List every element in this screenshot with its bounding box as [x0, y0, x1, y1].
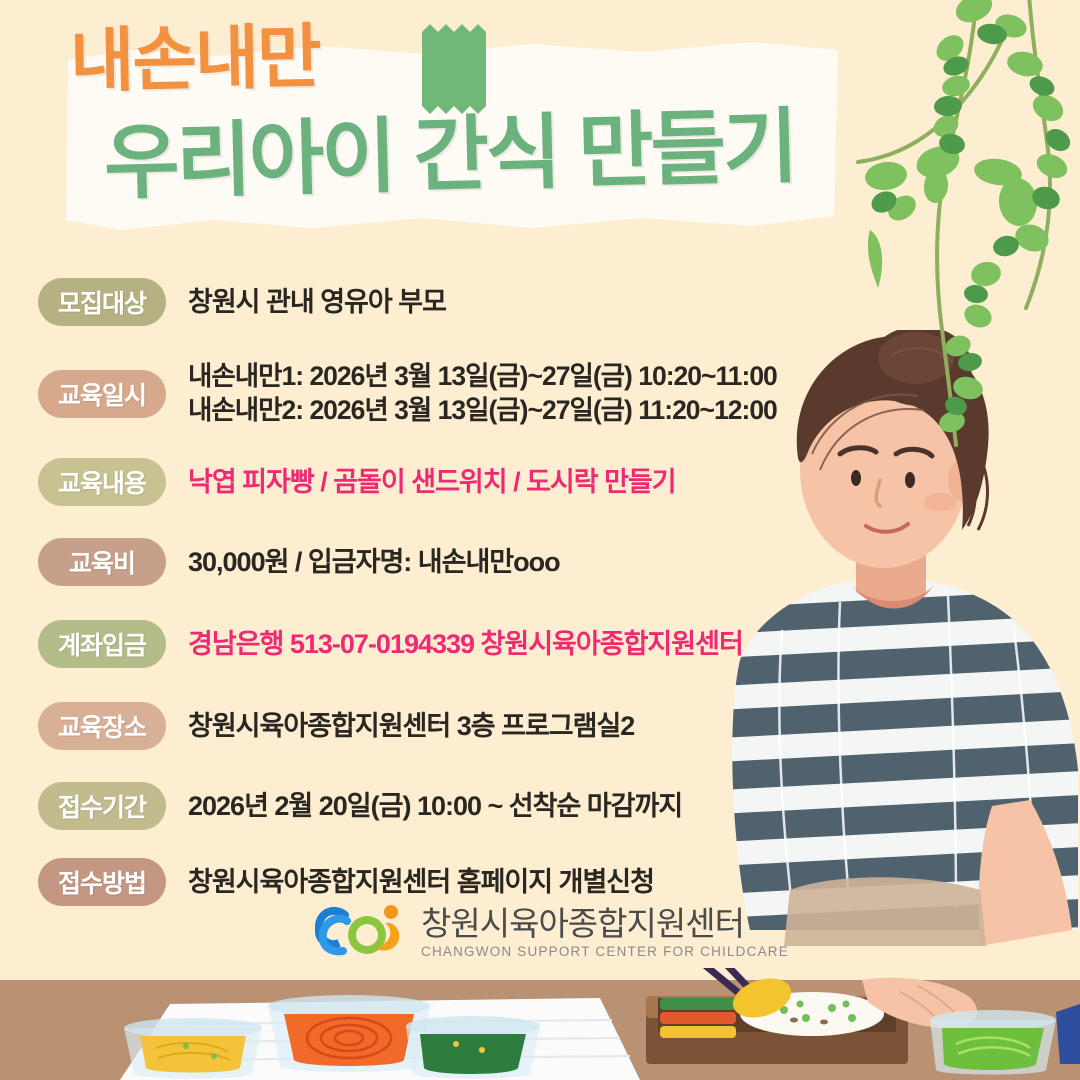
glass-bowl-green-spinach	[406, 1016, 540, 1079]
value-content: 낙엽 피자빵 / 곰돌이 샌드위치 / 도시락 만들기	[188, 465, 676, 500]
poster-root: 내손내만 우리아이 간식 만들기	[0, 0, 1080, 1080]
logo-korean-name: 창원시육아종합지원센터	[421, 907, 789, 942]
label-pill-schedule: 교육일시	[38, 370, 166, 418]
glass-bowl-yellow	[124, 1018, 262, 1079]
glass-bowls-and-bento-box-illustration	[0, 968, 1080, 1080]
value-method: 창원시육아종합지원센터 홈페이지 개별신청	[188, 865, 654, 900]
info-row-content: 교육내용 낙엽 피자빵 / 곰돌이 샌드위치 / 도시락 만들기	[38, 458, 676, 506]
info-row-period: 접수기간 2026년 2월 20일(금) 10:00 ~ 선착순 마감까지	[38, 782, 682, 830]
value-fee: 30,000원 / 입금자명: 내손내만ooo	[188, 545, 560, 580]
zigzag-badge-icon	[422, 22, 488, 116]
info-row-schedule: 교육일시 내손내만1: 2026년 3월 13일(금)~27일(금) 10:20…	[38, 360, 777, 428]
glass-bowl-green-sprouts	[930, 1010, 1056, 1075]
value-period: 2026년 2월 20일(금) 10:00 ~ 선착순 마감까지	[188, 789, 682, 824]
value-schedule: 내손내만1: 2026년 3월 13일(금)~27일(금) 10:20~11:0…	[188, 360, 777, 428]
info-row-account: 계좌입금 경남은행 513-07-0194339 창원시육아종합지원센터	[38, 620, 743, 668]
label-pill-target: 모집대상	[38, 278, 166, 326]
label-pill-method: 접수방법	[38, 858, 166, 906]
info-row-place: 교육장소 창원시육아종합지원센터 3층 프로그램실2	[38, 702, 634, 750]
label-pill-place: 교육장소	[38, 702, 166, 750]
info-row-method: 접수방법 창원시육아종합지원센터 홈페이지 개별신청	[38, 858, 654, 906]
title-banner: 내손내만 우리아이 간식 만들기	[62, 20, 842, 250]
value-target: 창원시 관내 영유아 부모	[188, 285, 446, 320]
organization-logo: 창원시육아종합지원센터 CHANGWON SUPPORT CENTER FOR …	[315, 903, 789, 963]
title-line-1: 내손내만	[69, 22, 320, 97]
label-pill-content: 교육내용	[38, 458, 166, 506]
value-account: 경남은행 513-07-0194339 창원시육아종합지원센터	[188, 627, 743, 662]
glass-bowl-orange	[268, 995, 430, 1072]
label-pill-fee: 교육비	[38, 538, 166, 586]
label-pill-account: 계좌입금	[38, 620, 166, 668]
logo-english-name: CHANGWON SUPPORT CENTER FOR CHILDCARE	[421, 944, 789, 959]
logo-text-block: 창원시육아종합지원센터 CHANGWON SUPPORT CENTER FOR …	[421, 907, 789, 959]
value-place: 창원시육아종합지원센터 3층 프로그램실2	[188, 709, 634, 744]
sc-childcare-logo-icon	[315, 903, 411, 963]
poster-title: 내손내만 우리아이 간식 만들기	[62, 20, 842, 250]
info-row-target: 모집대상 창원시 관내 영유아 부모	[38, 278, 446, 326]
title-line-2: 우리아이 간식 만들기	[103, 107, 796, 206]
label-pill-period: 접수기간	[38, 782, 166, 830]
info-row-fee: 교육비 30,000원 / 입금자명: 내손내만ooo	[38, 538, 560, 586]
